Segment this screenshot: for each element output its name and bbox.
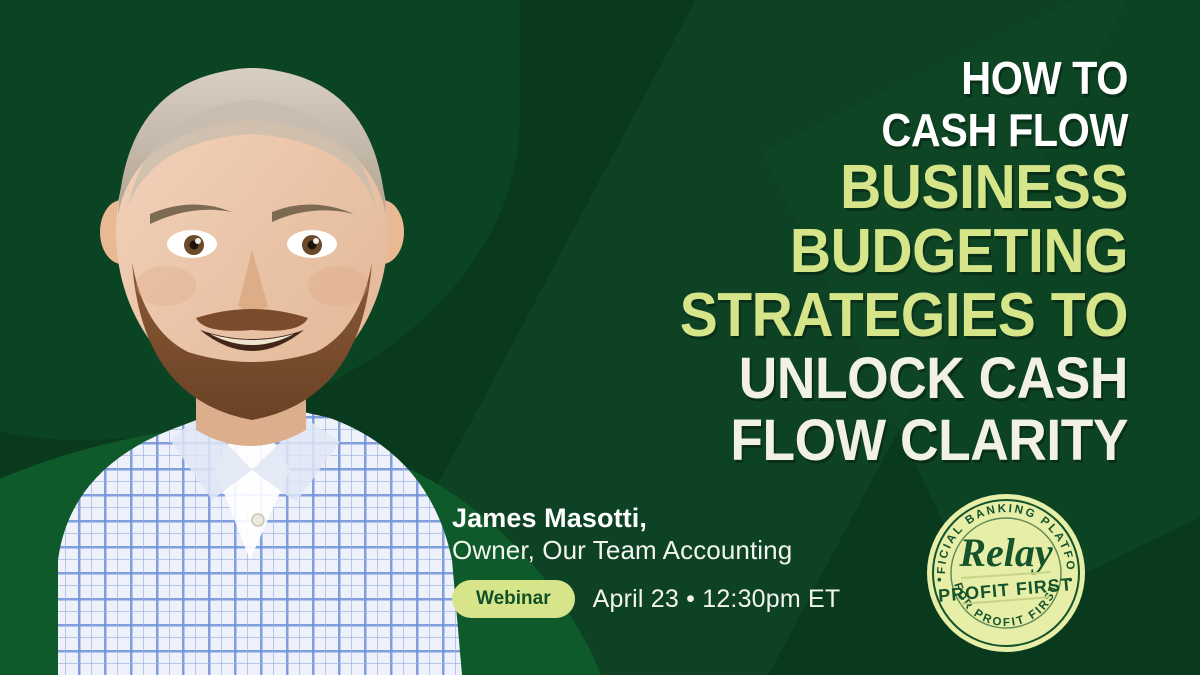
headline-block: HOW TO CASH FLOW BUSINESS BUDGETING STRA… [488,52,1128,472]
headline-lime-line-3: STRATEGIES TO [539,284,1128,348]
headline-kicker-line-1: HOW TO [552,52,1128,104]
headline-lime-line-1: BUSINESS [539,156,1128,220]
speaker-portrait-photo [0,0,520,675]
seal-wordmark: Relay [958,530,1053,575]
headline-kicker-line-2: CASH FLOW [552,104,1128,156]
event-meta-row: Webinar April 23 • 12:30pm ET [452,580,922,618]
webinar-type-badge: Webinar [452,580,575,618]
headline-cream-line-1: UNLOCK CASH [539,348,1128,410]
headline-lime-line-2: BUDGETING [539,220,1128,284]
webinar-promo-canvas: HOW TO CASH FLOW BUSINESS BUDGETING STRA… [0,0,1200,675]
speaker-role: Owner, Our Team Accounting [452,534,922,566]
event-datetime: April 23 • 12:30pm ET [593,585,841,614]
speaker-info-block: James Masotti, Owner, Our Team Accountin… [452,502,922,618]
speaker-name: James Masotti, [452,502,922,534]
relay-profit-first-seal: OFFICIAL BANKING PLATFORM FOR PROFIT FIR… [925,492,1087,654]
headline-cream-line-2: FLOW CLARITY [539,410,1128,472]
